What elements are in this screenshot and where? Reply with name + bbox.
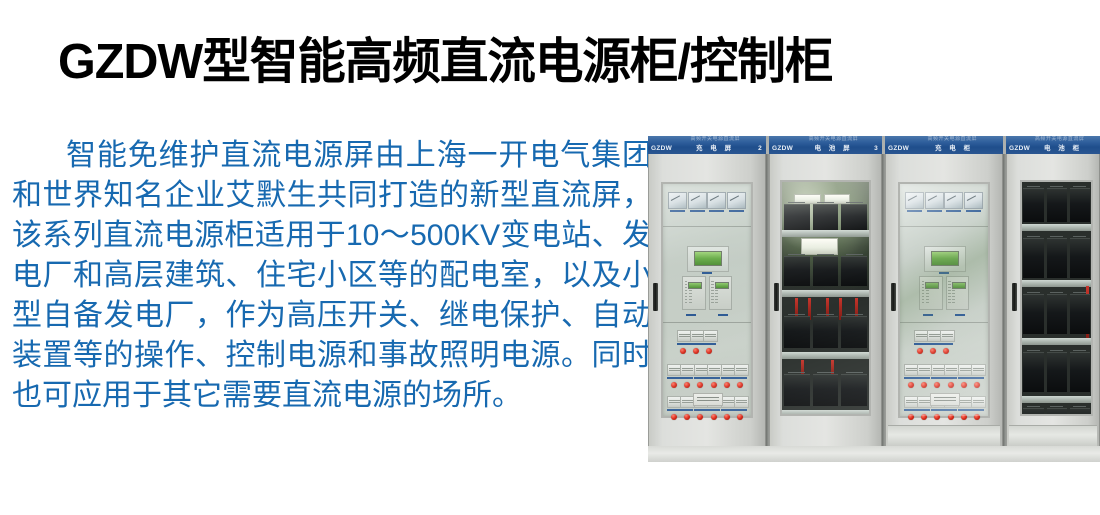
cabinet-2-header-band: 高频开关电源直流屏 GZDW 电 池 屏 3 — [769, 136, 882, 155]
cabinet-3-microtext: 高频开关电源直流屏 — [906, 136, 998, 143]
battery-unit — [1023, 238, 1043, 278]
breaker-switch[interactable] — [904, 396, 917, 420]
product-photo: 高频开关电源直流屏 GZDW 充 电 屏 2 — [648, 136, 1100, 462]
cabinet-2-number: 3 — [874, 143, 882, 154]
cabinet-3-nameplate — [930, 393, 960, 406]
breaker-switch[interactable] — [904, 364, 917, 388]
cabinet-1-body — [648, 154, 766, 448]
cabinet-4-name: 电 池 柜 — [1030, 143, 1096, 154]
cabinet-2-microtext: 高频开关电源直流屏 — [789, 136, 877, 143]
switch-row-middle — [667, 364, 747, 388]
breaker-switch[interactable] — [721, 364, 734, 388]
rectifier-module-1[interactable] — [919, 276, 942, 310]
battery-unit — [1070, 294, 1090, 334]
switch-row-middle — [904, 364, 984, 388]
cabinet-3-body — [885, 154, 1003, 448]
product-description-paragraph: 智能免维护直流电源屏由上海一开电气集团和世界知名企业艾默生共同打造的新型直流屏，… — [12, 136, 652, 416]
cabinet-4-microtext: 高频开关电源直流屏 — [1023, 136, 1096, 143]
breaker-switch[interactable] — [917, 364, 930, 388]
switch-row-top — [677, 330, 716, 354]
switch-row-top — [914, 330, 953, 354]
cabinet-1-number: 2 — [758, 143, 766, 154]
battery-unit — [841, 374, 867, 406]
monitor-lcd-unit[interactable] — [687, 246, 728, 272]
breaker-switch[interactable] — [667, 396, 680, 420]
battery-unit — [1047, 188, 1067, 222]
window-reflection — [801, 238, 838, 255]
page-title: GZDW型智能高频直流电源柜/控制柜 — [58, 32, 1078, 92]
battery-unit — [1047, 352, 1067, 392]
breaker-switch[interactable] — [707, 364, 720, 388]
cabinet-1-front-panel — [661, 182, 754, 418]
battery-shelf-row — [784, 256, 868, 286]
cabinet-1-microtext: 高频开关电源直流屏 — [669, 136, 761, 143]
battery-unit — [1023, 352, 1043, 392]
cabinet-3-front-panel — [898, 182, 991, 418]
cabinet-4-header-band: 高频开关电源直流屏 GZDW 电 池 柜 — [1006, 136, 1100, 155]
cabinet-4-plinth — [1009, 425, 1097, 448]
cabinet-1-meter-row — [668, 192, 746, 209]
breaker-switch[interactable] — [940, 330, 953, 354]
battery-shelf-row — [784, 204, 868, 230]
battery-unit — [813, 256, 839, 286]
breaker-switch[interactable] — [694, 364, 707, 388]
breaker-switch[interactable] — [971, 364, 984, 388]
battery-unit — [813, 204, 839, 230]
breaker-switch[interactable] — [667, 364, 680, 388]
battery-unit — [1047, 408, 1067, 416]
voltmeter-2 — [964, 192, 983, 209]
rectifier-module-row — [919, 276, 969, 310]
battery-unit — [841, 204, 867, 230]
battery-unit — [841, 316, 867, 348]
lcd-screen — [931, 251, 959, 266]
cabinet-1-door-handle — [653, 283, 658, 311]
cabinet-1-brand: GZDW — [648, 143, 672, 154]
battery-unit — [784, 256, 810, 286]
lcd-screen — [694, 251, 722, 266]
voltmeter-1 — [707, 192, 726, 209]
battery-unit — [1070, 408, 1090, 416]
battery-shelf-row — [1023, 188, 1090, 222]
cabinet-2-name: 电 池 屏 — [793, 143, 874, 154]
cabinet-battery-2: 高频开关电源直流屏 GZDW 电 池 柜 — [1006, 136, 1100, 448]
ammeter-1 — [905, 192, 924, 209]
battery-unit — [1070, 238, 1090, 278]
battery-shelf-row — [1023, 408, 1090, 416]
battery-unit — [813, 374, 839, 406]
cabinet-3-name: 充 电 柜 — [909, 143, 999, 154]
breaker-switch[interactable] — [931, 364, 944, 388]
breaker-switch[interactable] — [703, 330, 716, 354]
cabinet-2-door-handle — [774, 283, 779, 311]
cabinet-3-door-handle — [891, 283, 896, 311]
rectifier-module-2[interactable] — [709, 276, 732, 310]
breaker-switch[interactable] — [734, 364, 747, 388]
breaker-switch[interactable] — [680, 364, 693, 388]
battery-unit — [841, 256, 867, 286]
cabinet-1-name: 充 电 屏 — [672, 143, 758, 154]
battery-unit — [813, 316, 839, 348]
battery-shelf-row — [784, 316, 868, 348]
cabinet-3-meter-row — [905, 192, 983, 209]
battery-unit — [1070, 352, 1090, 392]
monitor-lcd-unit[interactable] — [924, 246, 965, 272]
battery-unit — [1070, 188, 1090, 222]
cabinet-charger-1: 高频开关电源直流屏 GZDW 充 电 屏 2 — [648, 136, 766, 448]
battery-unit — [1023, 408, 1043, 416]
breaker-switch[interactable] — [690, 330, 703, 354]
battery-unit — [1023, 294, 1043, 334]
battery-shelf-row — [1023, 352, 1090, 392]
battery-shelf-row — [784, 374, 868, 406]
battery-unit — [784, 316, 810, 348]
battery-unit — [1047, 238, 1067, 278]
breaker-switch[interactable] — [927, 330, 940, 354]
rectifier-module-1[interactable] — [682, 276, 705, 310]
battery-shelf-row — [1023, 238, 1090, 278]
breaker-switch[interactable] — [917, 396, 930, 420]
cabinet-2-body — [769, 154, 882, 448]
photo-floor — [648, 446, 1100, 462]
ammeter-2 — [688, 192, 707, 209]
cabinet-2-brand: GZDW — [769, 143, 793, 154]
rectifier-module-row — [682, 276, 732, 310]
cabinet-1-nameplate — [693, 393, 723, 406]
battery-unit — [784, 374, 810, 406]
battery-shelf-row — [1023, 294, 1090, 334]
voltmeter-2 — [727, 192, 746, 209]
cabinet-3-brand: GZDW — [885, 143, 909, 154]
cabinet-battery-1: 高频开关电源直流屏 GZDW 电 池 屏 3 — [769, 136, 882, 448]
battery-unit — [1047, 294, 1067, 334]
cabinet-charger-2: 高频开关电源直流屏 GZDW 充 电 柜 — [885, 136, 1003, 448]
cabinet-4-body — [1006, 154, 1100, 448]
breaker-switch[interactable] — [958, 364, 971, 388]
ammeter-1 — [668, 192, 687, 209]
breaker-switch[interactable] — [734, 396, 747, 420]
cabinet-1-header-band: 高频开关电源直流屏 GZDW 充 电 屏 2 — [648, 136, 766, 155]
breaker-switch[interactable] — [680, 396, 693, 420]
battery-unit — [784, 204, 810, 230]
cabinet-2-glass-door — [780, 180, 871, 416]
cabinet-4-door-handle — [1012, 283, 1017, 311]
breaker-switch[interactable] — [944, 364, 957, 388]
cabinet-4-brand: GZDW — [1006, 143, 1030, 154]
cabinet-4-open-rack — [1020, 180, 1094, 416]
rectifier-module-2[interactable] — [946, 276, 969, 310]
cabinet-3-plinth — [888, 425, 1000, 448]
battery-unit — [1023, 188, 1043, 222]
ammeter-2 — [925, 192, 944, 209]
breaker-switch[interactable] — [971, 396, 984, 420]
cabinet-3-header-band: 高频开关电源直流屏 GZDW 充 电 柜 — [885, 136, 1003, 155]
breaker-switch[interactable] — [677, 330, 690, 354]
breaker-switch[interactable] — [914, 330, 927, 354]
voltmeter-1 — [944, 192, 963, 209]
